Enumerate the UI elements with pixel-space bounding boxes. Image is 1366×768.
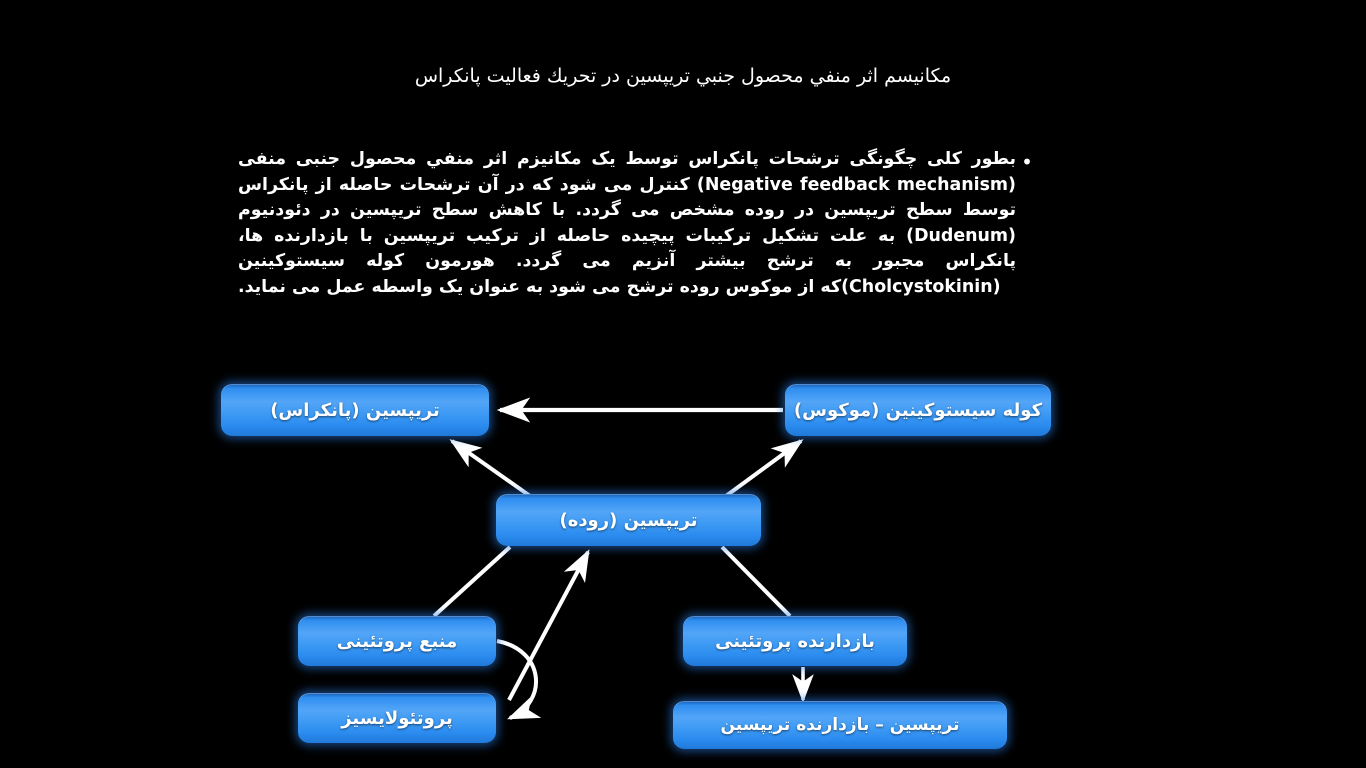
connector-trypsin-intestine-to-cck [726,441,801,496]
diagram-node-proteolysis[interactable]: پروتئولایسیز [298,693,496,743]
connector-trypsin-intestine-to-protein-inhibitor [722,547,790,616]
diagram-node-protein-source[interactable]: منبع پروتئینی [298,616,496,666]
diagram-node-trypsin-complex[interactable]: تریپسین – بازدارنده تریپسین [673,701,1007,749]
flow-diagram: تریپسین (پانكراس) كوله سیستوكینین (موكوس… [0,0,1366,768]
connector-trypsin-intestine-to-protein-source [434,547,510,616]
connector-proteolysis-to-trypsin-intestine [509,552,588,700]
connector-protein-source-to-proteolysis [497,641,536,718]
diagram-node-protein-inhibitor[interactable]: بازدارنده پروتئینی [683,616,907,666]
diagram-node-trypsin-intestine[interactable]: تریپسین (روده) [496,494,761,546]
diagram-node-cholecystokinin[interactable]: كوله سیستوكینین (موكوس) [785,384,1051,436]
connector-trypsin-intestine-to-pancreas [452,441,530,496]
diagram-node-trypsin-pancreas[interactable]: تریپسین (پانكراس) [221,384,489,436]
